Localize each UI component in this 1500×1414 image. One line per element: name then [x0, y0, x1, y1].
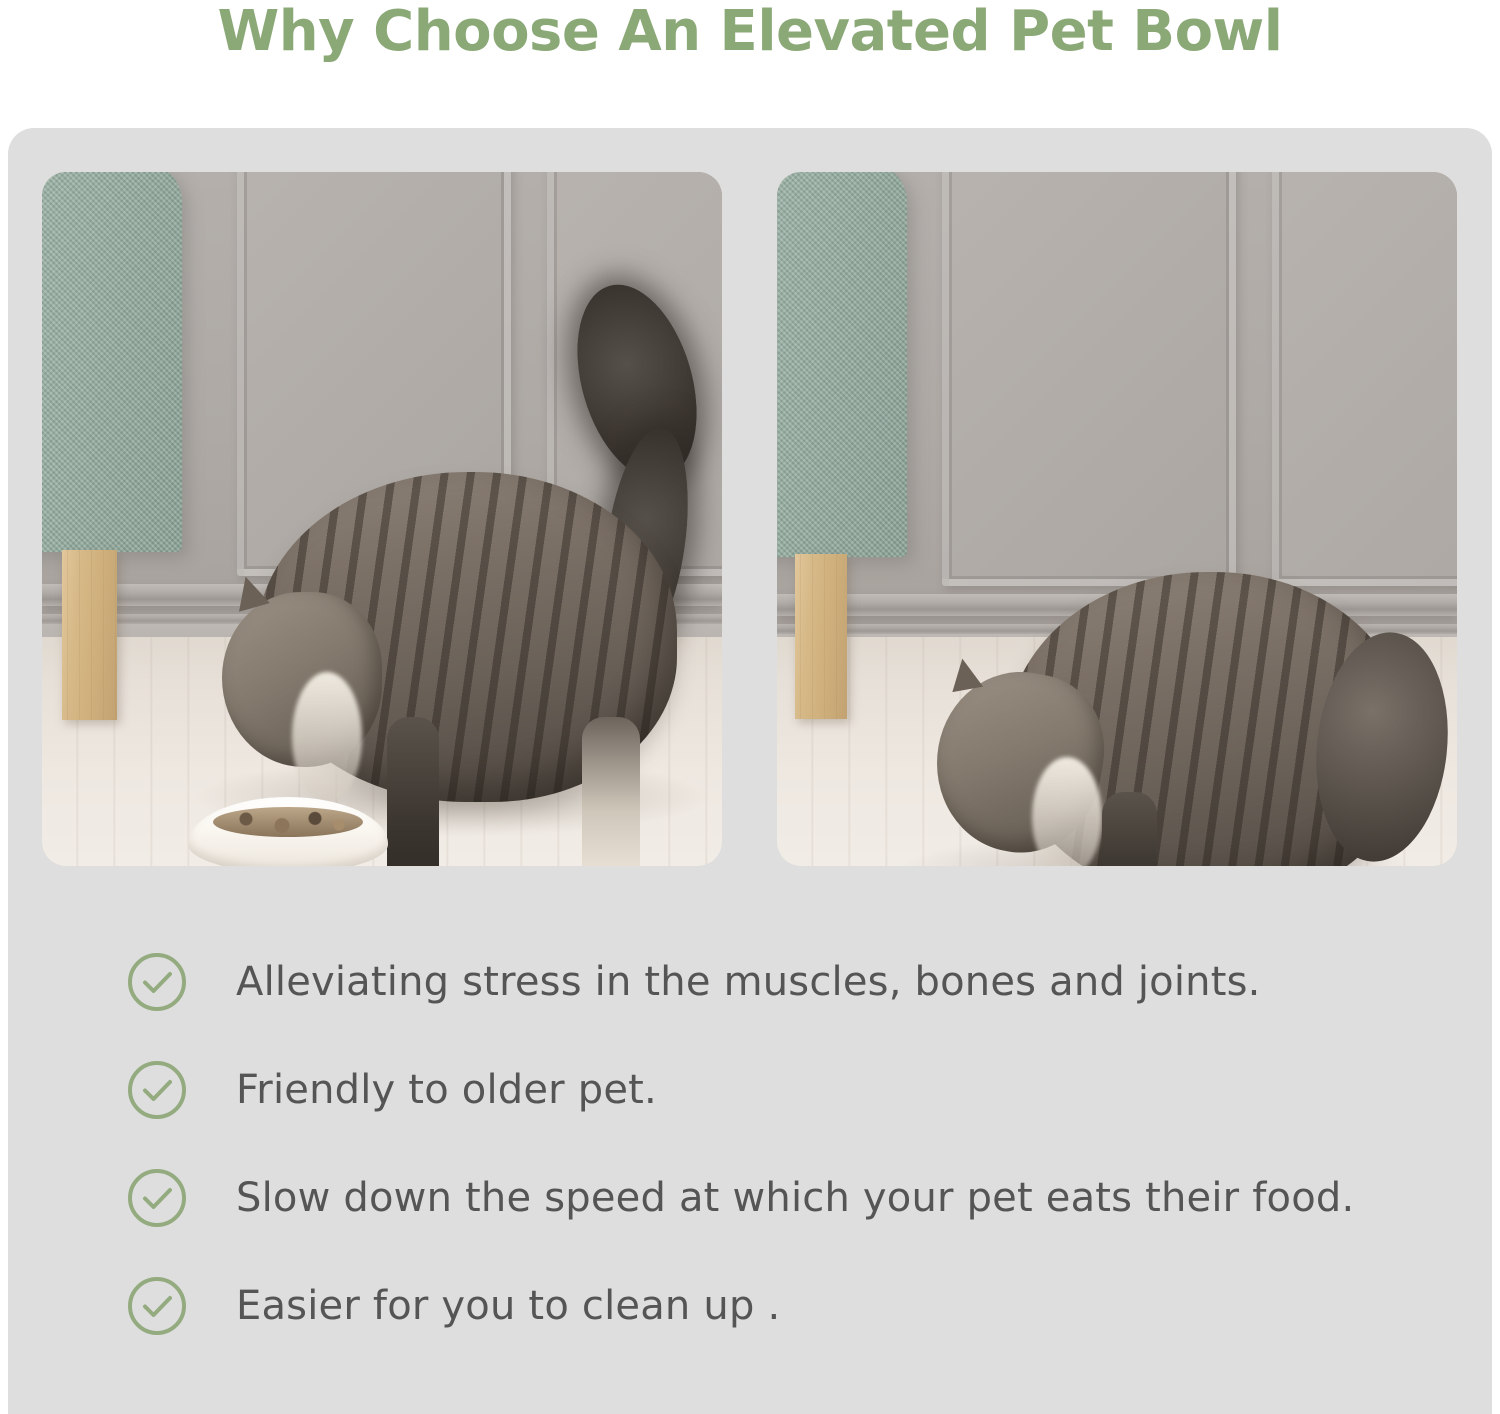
- bench-wood-leg: [62, 550, 117, 720]
- pet-food: [213, 807, 363, 837]
- check-circle-icon: [126, 951, 188, 1013]
- page-title: Why Choose An Elevated Pet Bowl: [0, 0, 1500, 70]
- bench-fabric: [42, 172, 182, 552]
- check-circle-icon: [126, 1275, 188, 1337]
- benefit-text: Friendly to older pet.: [236, 1067, 657, 1113]
- benefit-item: Easier for you to clean up .: [126, 1252, 1446, 1360]
- cat-hind-leg: [582, 717, 640, 866]
- wall-panel-left: [942, 172, 1236, 586]
- cat-chest-fur: [1032, 757, 1102, 866]
- benefit-item: Friendly to older pet.: [126, 1036, 1446, 1144]
- benefit-item: Slow down the speed at which your pet ea…: [126, 1144, 1446, 1252]
- photo-row: [42, 172, 1458, 866]
- cat-chest-fur: [292, 672, 362, 802]
- feature-card: Alleviating stress in the muscles, bones…: [8, 128, 1492, 1414]
- benefit-list: Alleviating stress in the muscles, bones…: [126, 928, 1446, 1360]
- benefit-text: Alleviating stress in the muscles, bones…: [236, 959, 1261, 1005]
- cat-ear: [947, 656, 983, 692]
- elevated-bowl-photo: [42, 172, 722, 866]
- check-circle-icon: [126, 1059, 188, 1121]
- cat-front-leg: [1102, 792, 1157, 866]
- flat-bowl-photo: [777, 172, 1457, 866]
- benefit-text: Easier for you to clean up .: [236, 1283, 780, 1329]
- check-circle-icon: [126, 1167, 188, 1229]
- bench-fabric: [777, 172, 907, 557]
- benefit-text: Slow down the speed at which your pet ea…: [236, 1175, 1354, 1221]
- bench-wood-leg: [795, 554, 847, 719]
- wall-panel-right: [1272, 172, 1457, 586]
- benefit-item: Alleviating stress in the muscles, bones…: [126, 928, 1446, 1036]
- cat-front-leg: [387, 717, 439, 866]
